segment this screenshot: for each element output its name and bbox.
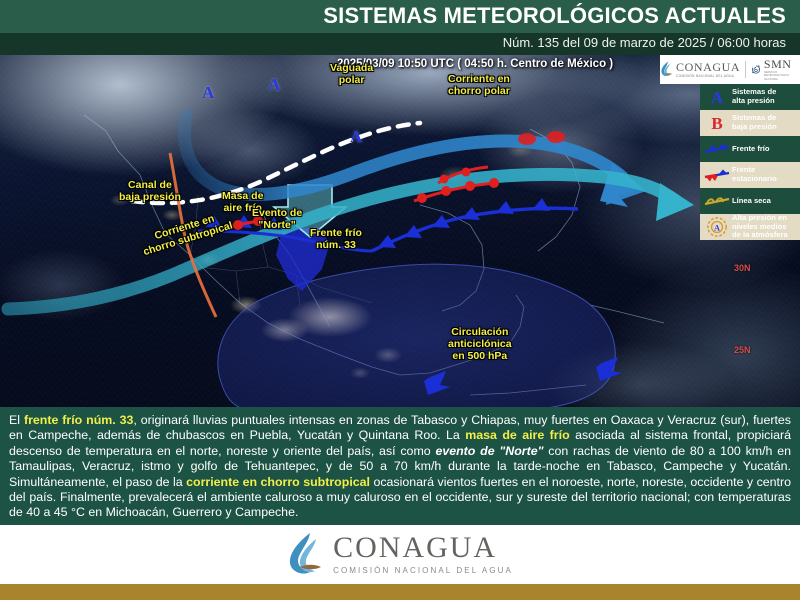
bulletin-number-date: Núm. 135 del 09 de marzo de 2025 / 06:00… [503,35,786,50]
page-title: SISTEMAS METEOROLÓGICOS ACTUALES [323,3,786,29]
smn-spiral-icon [751,62,761,77]
map-timestamp: 2025/03/09 10:50 UTC ( 04:50 h. Centro d… [337,58,613,70]
subtropical-jet-arrowhead [656,183,694,221]
legend-label-linea-seca: Línea seca [732,197,771,206]
legend-symbol-high-pressure: A [702,89,732,106]
cold-front-icon [704,143,730,156]
cold-front-33 [372,198,578,251]
legend-item-baja-presion: B Sistemas debaja presión [700,110,800,136]
legend-item-linea-seca: Línea seca [700,188,800,214]
map-legend: A Sistemas dealta presión B Sistemas deb… [700,84,800,240]
conagua-wordmark: CONAGUA [676,61,740,73]
dry-line-icon [704,195,730,208]
conagua-water-drop-icon-large [287,532,323,576]
legend-item-frente-estacionario: Frenteestacionario [700,162,800,188]
conagua-logo-small: CONAGUA COMISIÓN NACIONAL DEL AGUA [660,61,740,78]
map-label-corriente-chorro-polar: Corriente enchorro polar [448,74,510,98]
coord-label-25n: 25N [734,345,751,355]
legend-symbol-dry-line [702,195,732,208]
footer-bar: CONAGUA COMISIÓN NACIONAL DEL AGUA [0,525,800,583]
smn-tagline: SERVICIO METEOROLÓGICO NACIONAL [764,71,800,81]
legend-label-baja-presion: Sistemas debaja presión [732,114,777,132]
map-label-vaguada-polar: Vaguadapolar [330,63,373,87]
mid-level-high-icon: A [706,216,728,238]
anticyclone-500hpa-area [218,264,615,407]
legend-label-alta-presion: Sistemas dealta presión [732,88,776,106]
conagua-logo-large: CONAGUA COMISIÓN NACIONAL DEL AGUA [287,532,513,576]
legend-symbol-low-pressure: B [702,115,732,132]
weather-bulletin-page: SISTEMAS METEOROLÓGICOS ACTUALES Núm. 13… [0,0,800,600]
legend-item-alta-presion: A Sistemas dealta presión [700,84,800,110]
legend-label-alta-niveles-medios: Alta presión enniveles mediosde la atmós… [732,214,788,241]
legend-label-frente-estacionario: Frenteestacionario [732,166,777,184]
smn-logo-small: SMN SERVICIO METEOROLÓGICO NACIONAL [751,58,800,81]
gold-accent-bar [0,584,800,600]
brand-divider [745,61,746,78]
map-label-canal-baja-presion: Canal debaja presión [119,180,181,204]
satellite-weather-map[interactable]: 35N 30N 25N A A A A 2025/03/09 10:50 UTC… [0,55,800,407]
high-pressure-marker-a2: A [268,75,280,95]
legend-label-frente-frio: Frente frío [732,145,770,154]
legend-item-alta-niveles-medios: A Alta presión enniveles mediosde la atm… [700,214,800,240]
map-label-frente-frio-33: Frente fríonúm. 33 [310,228,362,252]
legend-item-frente-frio: Frente frío [700,136,800,162]
conagua-footer-text: CONAGUA COMISIÓN NACIONAL DEL AGUA [333,533,513,575]
map-vector-overlay [0,55,800,407]
stationary-front-icon [704,169,730,182]
letter-b-icon: B [711,115,722,132]
svg-text:A: A [714,224,720,233]
subheader-bar: Núm. 135 del 09 de marzo de 2025 / 06:00… [0,33,800,55]
conagua-tagline: COMISIÓN NACIONAL DEL AGUA [676,75,740,78]
legend-symbol-mid-level-high: A [702,216,732,238]
legend-symbol-cold-front [702,143,732,156]
coord-label-30n: 30N [734,263,751,273]
header-bar: SISTEMAS METEOROLÓGICOS ACTUALES [0,0,800,33]
legend-symbol-stationary-front [702,169,732,182]
high-pressure-marker-a1: A [202,83,214,103]
forecast-summary-panel: El frente frío núm. 33, originará lluvia… [0,407,800,525]
map-label-circulacion-anticiclonica: Circulaciónanticiclónicaen 500 hPa [448,327,512,362]
forecast-summary-text: El frente frío núm. 33, originará lluvia… [9,413,791,521]
letter-a-icon: A [711,89,723,106]
brand-strip: CONAGUA COMISIÓN NACIONAL DEL AGUA SMN S… [660,55,800,84]
smn-wordmark: SMN [764,58,800,70]
high-pressure-marker-a3: A [350,127,362,147]
conagua-footer-wordmark: CONAGUA [333,533,513,563]
map-label-evento-norte: Evento de"Norte" [252,208,302,232]
conagua-water-drop-icon [660,61,673,77]
conagua-footer-tagline: COMISIÓN NACIONAL DEL AGUA [333,566,513,575]
